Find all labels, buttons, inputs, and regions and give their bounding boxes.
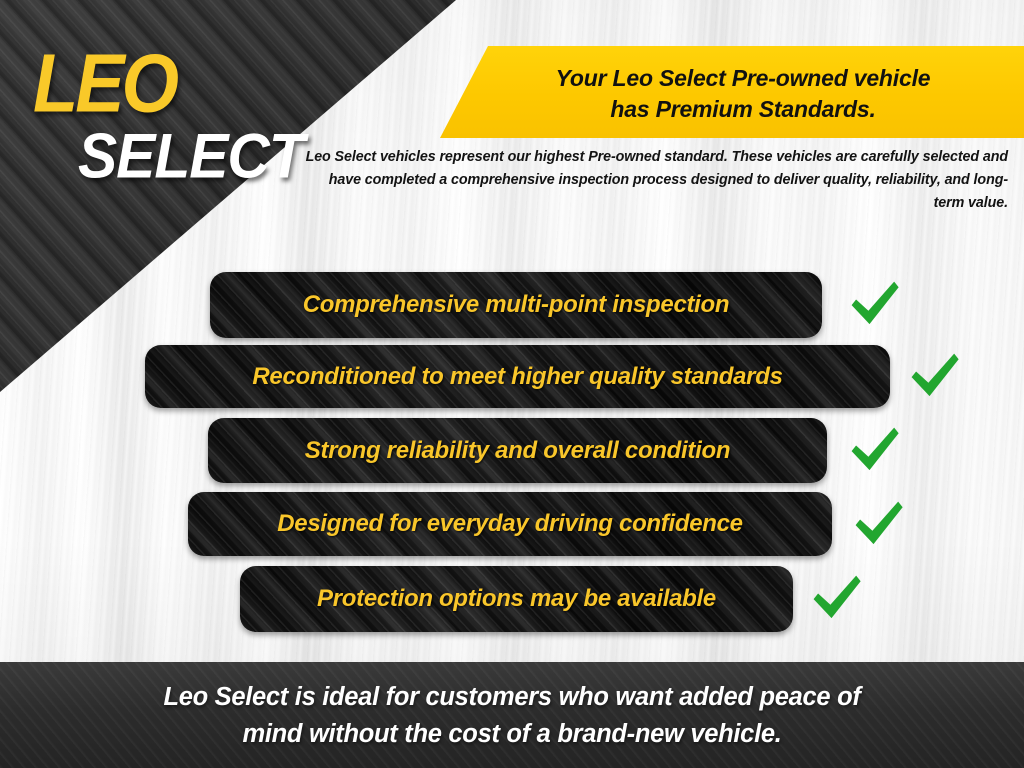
feature-pill-5: Protection options may be available bbox=[240, 566, 793, 632]
feature-label-1: Comprehensive multi-point inspection bbox=[303, 291, 730, 319]
intro-paragraph: Leo Select vehicles represent our highes… bbox=[300, 146, 1008, 215]
feature-pill-3: Strong reliability and overall condition bbox=[208, 418, 827, 483]
footer-line-1: Leo Select is ideal for customers who wa… bbox=[163, 679, 860, 716]
leo-select-logo: LEO SELECT bbox=[30, 42, 330, 172]
check-mark-icon bbox=[808, 570, 864, 626]
check-mark-icon bbox=[906, 348, 962, 404]
headline-banner-text: Your Leo Select Pre-owned vehicle has Pr… bbox=[440, 52, 1024, 136]
check-mark-icon bbox=[850, 496, 906, 552]
leo-select-promo-banner: LEO SELECT Your Leo Select Pre-owned veh… bbox=[0, 0, 1024, 768]
logo-word-select: SELECT bbox=[78, 125, 304, 188]
feature-label-2: Reconditioned to meet higher quality sta… bbox=[252, 363, 782, 391]
feature-label-4: Designed for everyday driving confidence bbox=[277, 510, 742, 538]
feature-pill-2: Reconditioned to meet higher quality sta… bbox=[145, 345, 890, 408]
headline-line-2: has Premium Standards. bbox=[588, 94, 875, 125]
headline-line-1: Your Leo Select Pre-owned vehicle bbox=[534, 63, 931, 94]
logo-word-leo: LEO bbox=[33, 42, 176, 125]
feature-pill-1: Comprehensive multi-point inspection bbox=[210, 272, 822, 338]
check-mark-icon bbox=[846, 276, 902, 332]
feature-pill-4: Designed for everyday driving confidence bbox=[188, 492, 832, 556]
footer-text: Leo Select is ideal for customers who wa… bbox=[0, 668, 1024, 764]
check-mark-icon bbox=[846, 422, 902, 478]
feature-label-5: Protection options may be available bbox=[317, 585, 716, 613]
feature-label-3: Strong reliability and overall condition bbox=[305, 437, 730, 465]
footer-line-2: mind without the cost of a brand-new veh… bbox=[242, 716, 781, 753]
